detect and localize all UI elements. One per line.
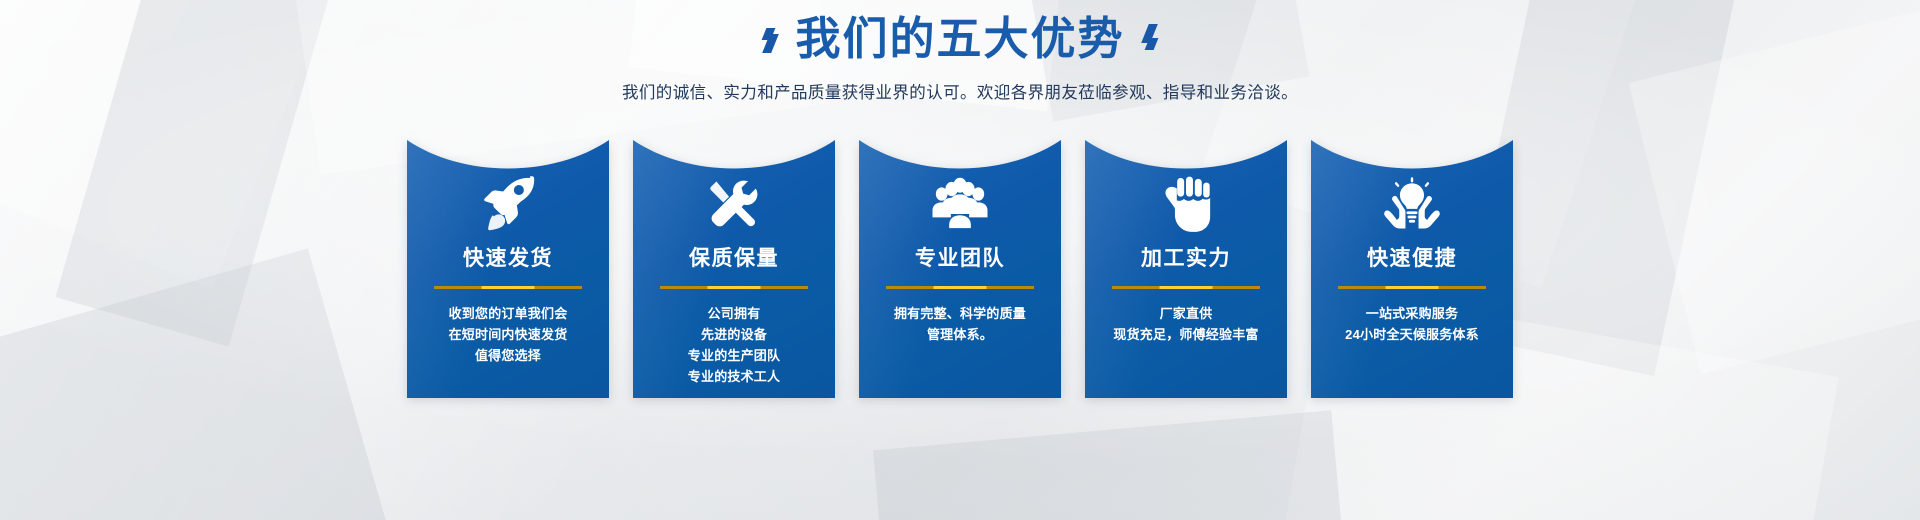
advantage-card[interactable]: 快速发货 收到您的订单我们会 在短时间内快速发货 值得您选择 <box>407 140 609 398</box>
card-description: 拥有完整、科学的质量 管理体系。 <box>894 303 1026 345</box>
card-title: 保质保量 <box>689 248 779 269</box>
advantage-card[interactable]: 快速便捷 一站式采购服务 24小时全天候服务体系 <box>1311 140 1513 398</box>
card-divider <box>660 286 808 289</box>
card-description: 厂家直供 现货充足，师傅经验丰富 <box>1113 303 1258 345</box>
slash-deco-left-icon <box>764 17 775 61</box>
fist-hand-icon <box>1160 176 1212 232</box>
section-heading: 我们的五大优势 我们的诚信、实力和产品质量获得业界的认可。欢迎各界朋友莅临参观、… <box>0 16 1920 103</box>
advantage-card[interactable]: 专业团队 拥有完整、科学的质量 管理体系。 <box>859 140 1061 398</box>
card-description: 收到您的订单我们会 在短时间内快速发货 值得您选择 <box>449 303 568 366</box>
page-title: 我们的五大优势 <box>795 16 1124 61</box>
page-subtitle: 我们的诚信、实力和产品质量获得业界的认可。欢迎各界朋友莅临参观、指导和业务洽谈。 <box>0 79 1920 103</box>
promo-banner: 我们的五大优势 我们的诚信、实力和产品质量获得业界的认可。欢迎各界朋友莅临参观、… <box>0 0 1920 520</box>
title-row: 我们的五大优势 <box>764 16 1155 61</box>
wrench-screwdriver-icon <box>705 176 763 232</box>
card-title: 快速便捷 <box>1367 248 1457 269</box>
card-divider <box>1112 286 1260 289</box>
team-group-icon <box>930 176 990 232</box>
advantage-card-list: 快速发货 收到您的订单我们会 在短时间内快速发货 值得您选择 保质保量 公司拥有… <box>0 140 1920 398</box>
card-description: 公司拥有 先进的设备 专业的生产团队 专业的技术工人 <box>688 303 780 387</box>
card-divider <box>1338 286 1486 289</box>
card-title: 专业团队 <box>915 248 1005 269</box>
card-divider <box>434 286 582 289</box>
advantage-card[interactable]: 保质保量 公司拥有 先进的设备 专业的生产团队 专业的技术工人 <box>633 140 835 398</box>
slash-deco-right-icon <box>1145 17 1156 61</box>
hands-lightbulb-icon <box>1381 176 1443 232</box>
card-description: 一站式采购服务 24小时全天候服务体系 <box>1345 303 1479 345</box>
card-divider <box>886 286 1034 289</box>
card-title: 加工实力 <box>1141 248 1231 269</box>
rocket-icon <box>479 176 537 232</box>
advantage-card[interactable]: 加工实力 厂家直供 现货充足，师傅经验丰富 <box>1085 140 1287 398</box>
card-title: 快速发货 <box>463 248 553 269</box>
